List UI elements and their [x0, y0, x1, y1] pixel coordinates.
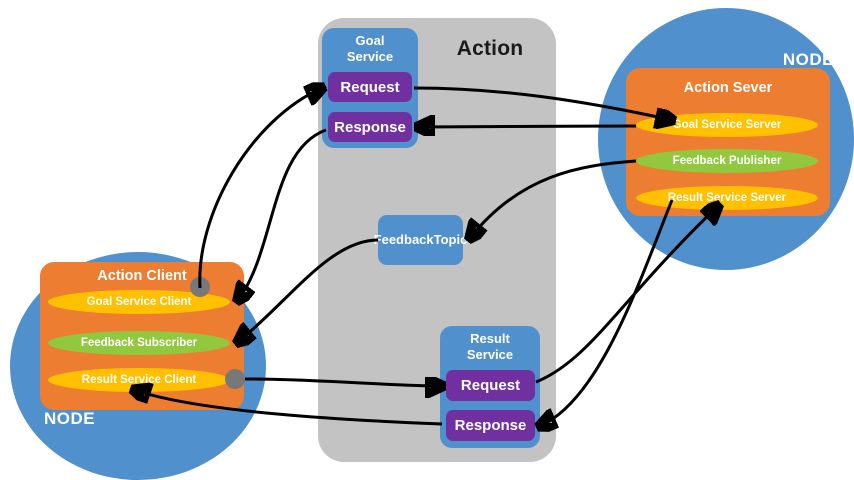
pill-result-service-server[interactable]: Result Service Server	[636, 186, 818, 210]
action-panel-title: Action	[430, 34, 550, 64]
arrow-client-goal-request	[200, 88, 322, 288]
goal-service-title-line1: Goal	[322, 33, 418, 49]
feedback-topic-line2: Topic	[434, 232, 468, 248]
result-service-title: Result Service	[440, 331, 540, 367]
pill-feedback-subscriber[interactable]: Feedback Subscriber	[48, 331, 230, 355]
goal-service-client-port	[190, 277, 210, 297]
diagram-canvas: Action Action Client Action Sever Goal S…	[0, 0, 854, 480]
pill-result-service-client[interactable]: Result Service Client	[48, 368, 230, 392]
goal-service-title: Goal Service	[322, 33, 418, 69]
result-service-client-port	[225, 369, 245, 389]
result-service-request[interactable]: Request	[446, 370, 535, 401]
goal-service-title-line2: Service	[322, 49, 418, 65]
feedback-topic-box[interactable]: Feedback Topic	[378, 215, 463, 265]
action-client-title: Action Client	[40, 268, 244, 288]
pill-goal-service-server[interactable]: Goal Service Server	[636, 113, 818, 137]
arrow-goal-response-to-client	[238, 130, 326, 300]
action-server-title: Action Sever	[626, 80, 830, 100]
goal-service-request[interactable]: Request	[328, 72, 412, 102]
pill-feedback-publisher[interactable]: Feedback Publisher	[636, 149, 818, 173]
result-service-title-line2: Service	[440, 347, 540, 363]
server-node-label: NODE	[744, 50, 834, 72]
feedback-topic-line1: Feedback	[374, 232, 434, 248]
result-service-title-line1: Result	[440, 331, 540, 347]
goal-service-response[interactable]: Response	[328, 112, 412, 142]
client-node-label: NODE	[44, 409, 134, 431]
result-service-response[interactable]: Response	[446, 410, 535, 441]
